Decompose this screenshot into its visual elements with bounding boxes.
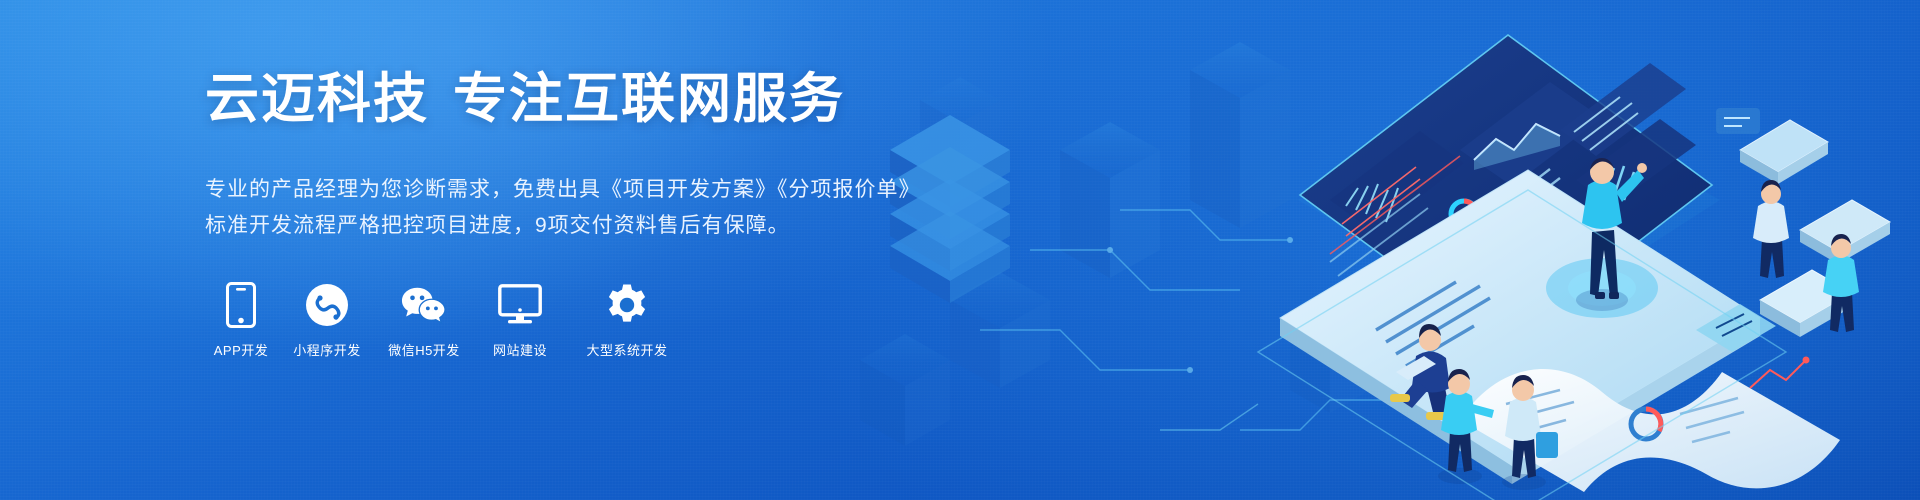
service-item-2[interactable]: 小程序开发 (291, 282, 363, 359)
subtitle-line-1: 专业的产品经理为您诊断需求，免费出具《项目开发方案》《分项报价单》 (205, 172, 921, 208)
hero-illustration (860, 0, 1920, 500)
headline-brand: 云迈科技 (205, 69, 429, 129)
wechat-bubbles-icon (401, 282, 447, 328)
person-right-platform (1753, 180, 1789, 278)
service-item-1[interactable]: APP开发 (205, 282, 277, 359)
mobile-phone-icon (218, 282, 264, 328)
monitor-icon (497, 282, 543, 328)
service-label: 小程序开发 (293, 340, 361, 359)
service-list: APP开发 小程序开发 (205, 282, 679, 359)
gear-icon (604, 282, 650, 328)
mini-program-icon (304, 282, 350, 328)
banner-content: 云迈科技专注互联网服务 专业的产品经理为您诊断需求，免费出具《项目开发方案》《分… (205, 0, 965, 500)
service-label: 微信H5开发 (388, 340, 460, 359)
service-item-3[interactable]: 微信H5开发 (381, 282, 467, 359)
service-label: 网站建设 (493, 340, 547, 359)
headline-tagline: 专注互联网服务 (453, 69, 845, 129)
subtitle-line-2: 标准开发流程严格把控项目进度，9项交付资料售后有保障。 (205, 208, 921, 244)
service-item-5[interactable]: 大型系统开发 (575, 282, 679, 359)
service-label: APP开发 (214, 340, 269, 359)
service-item-4[interactable]: 网站建设 (483, 282, 557, 359)
banner-subtitle: 专业的产品经理为您诊断需求，免费出具《项目开发方案》《分项报价单》 标准开发流程… (205, 172, 921, 244)
page-title: 云迈科技专注互联网服务 (205, 68, 845, 132)
hero-banner: 云迈科技专注互联网服务 专业的产品经理为您诊断需求，免费出具《项目开发方案》《分… (0, 0, 1920, 500)
service-label: 大型系统开发 (586, 340, 667, 359)
